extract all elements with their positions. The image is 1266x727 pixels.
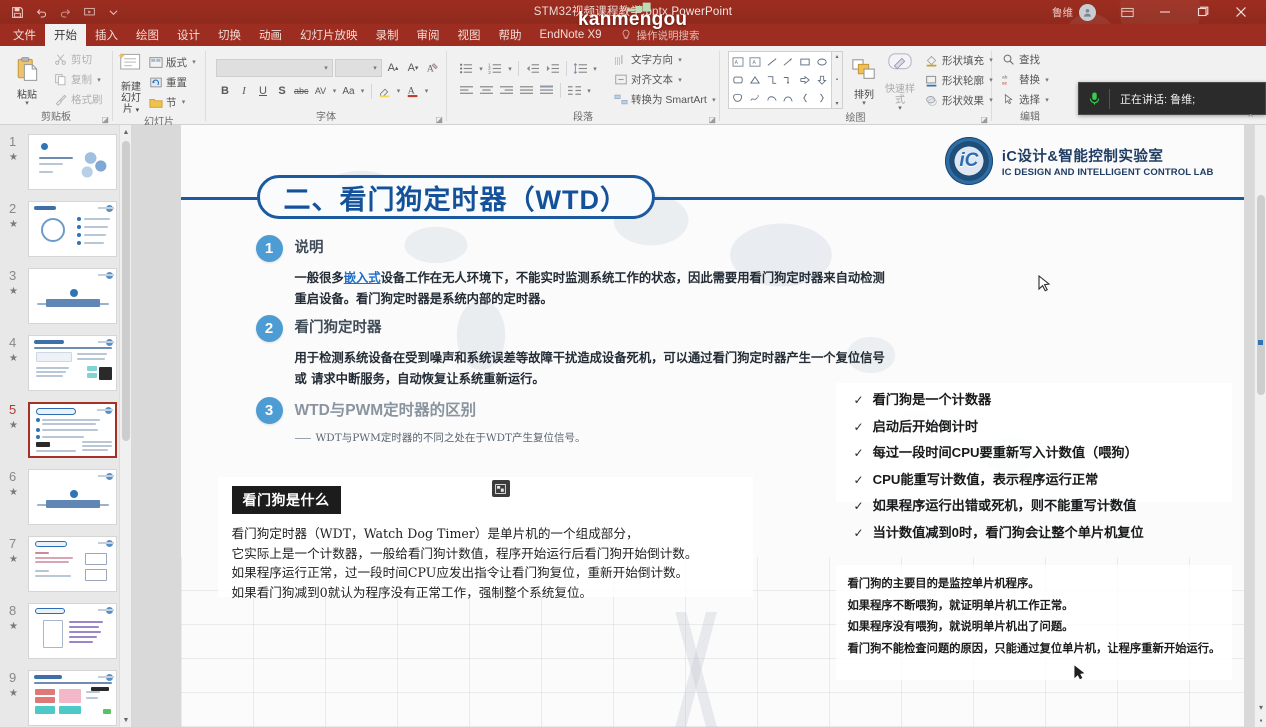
section-3-dash [295,438,311,439]
bullets-icon[interactable] [457,60,476,78]
note-line: 如果程序不断喂狗，就证明单片机工作正常。 [848,595,1221,617]
shape-textbox-icon[interactable]: A [730,53,747,71]
thumbnail-number-text: 6 [9,469,16,484]
paste-icon [13,55,41,88]
select-button[interactable]: 选择 ▾ [999,90,1055,109]
check-item-text: 如果程序运行出错或死机，则不能重写计数值 [873,495,1137,514]
shape-curve-icon[interactable] [763,89,780,107]
thumbnail-slide-6[interactable]: 6★ [0,469,131,527]
chevron-down-icon[interactable]: ▾ [1043,96,1051,104]
slide-area-scrollbar[interactable]: ▾ ▪ [1254,125,1266,727]
shape-effects-button[interactable]: 形状效果 ▾ [922,91,999,110]
chevron-down-icon[interactable]: ▾ [676,56,684,64]
arrange-button[interactable]: 排列 ▾ [850,54,878,107]
check-icon: ✓ [854,420,864,434]
numbering-icon[interactable]: 123 [486,60,505,78]
section-1-number: 1 [256,235,283,262]
ribbon-group-editing: 查找 abac 替换 ▾ 选择 ▾ [992,46,1068,125]
shape-fill-icon [924,53,939,68]
chevron-down-icon[interactable]: ▾ [331,87,339,95]
undo-icon[interactable] [34,5,49,20]
character-spacing-button[interactable]: AV [312,82,330,100]
slide-editing-area[interactable]: iC iC设计&智能控制实验室 IC DESIGN AND INTELLIGEN… [131,125,1254,727]
thumbnail-number: 6★ [0,469,28,527]
format-painter-label: 格式刷 [71,92,103,107]
shape-down-arrow-icon[interactable] [813,71,830,89]
star-icon: ★ [9,418,18,433]
thumbnail-image[interactable] [28,201,117,257]
thumbnail-slide-4[interactable]: 4★ [0,335,131,393]
note-line: 看门狗的主要目的是监控单片机程序。 [848,573,1221,595]
chevron-down-icon[interactable]: ▾ [136,107,140,114]
thumbnail-slide-7[interactable]: 7★ [0,536,131,594]
font-dialog-launcher-icon[interactable]: ◪ [435,115,443,124]
chevron-down-icon[interactable]: ▾ [359,87,367,95]
text-shadow-button[interactable]: S [273,82,291,100]
section-1-body-highlight: 嵌入式 [344,270,381,285]
paste-button[interactable]: 粘贴 ▾ [5,52,49,107]
restore-icon[interactable] [1184,0,1222,24]
shape-triangle-icon[interactable] [747,71,764,89]
tab-slideshow[interactable]: 幻灯片放映 [291,24,367,46]
thumbnail-number-text: 9 [9,670,16,685]
layout-label: 版式 [166,55,187,70]
tab-design[interactable]: 设计 [168,24,209,46]
chevron-down-icon[interactable]: ▾ [862,101,866,107]
ribbon-group-paragraph: ▾ 123 ▾ ▾ [447,46,719,125]
star-icon: ★ [9,217,18,232]
shape-freeform-icon[interactable] [747,89,764,107]
title-bar: STM32视频课程教学.pptx PowerPoint ▂▄▆ kanmengo… [0,0,1266,24]
thumbnail-image[interactable] [28,536,117,592]
tab-draw[interactable]: 绘图 [127,24,168,46]
section-3-number: 3 [256,397,283,424]
chevron-down-icon[interactable]: ▾ [369,64,381,72]
star-icon: ★ [9,485,18,500]
tab-transitions[interactable]: 切换 [209,24,250,46]
tip-box[interactable]: 看门狗是什么 看门狗定时器（WDT，Watch Dog Timer）是单片机的一… [218,477,753,597]
change-case-button[interactable]: Aa [340,82,358,100]
increase-font-size-icon[interactable]: A▴ [384,59,402,77]
shape-fill-button[interactable]: 形状填充 ▾ [922,51,999,70]
slide-title[interactable]: 二、看门狗定时器（WTD） [257,175,655,219]
new-slide-label-line1: 新建 [121,82,141,93]
watermark-text: kanmengou [578,9,687,31]
start-slideshow-icon[interactable] [82,5,97,20]
shape-oval-icon[interactable] [813,53,830,71]
thumbnail-number: 4★ [0,335,28,393]
comment-icon[interactable]: ▾ [1259,703,1263,712]
svg-text:|||: ||| [614,55,620,65]
new-slide-button[interactable]: 新建 幻灯片 ▾ [118,48,144,116]
find-button[interactable]: 查找 [999,50,1055,69]
star-icon: ★ [9,619,18,634]
reset-label: 重置 [166,75,187,90]
smartart-icon [613,92,628,107]
star-icon: ★ [9,351,18,366]
cursor-icon [1001,92,1016,107]
lab-name-en: IC DESIGN AND INTELLIGENT CONTROL LAB [1002,167,1214,178]
shape-fill-label: 形状填充 [942,53,984,68]
chevron-down-icon[interactable]: ▾ [591,65,599,73]
align-left-icon[interactable] [457,82,476,100]
tab-record[interactable]: 录制 [367,24,408,46]
chevron-down-icon[interactable]: ▾ [506,65,514,73]
align-text-button[interactable]: 对齐文本 ▾ [611,70,722,89]
system-tray-icon[interactable]: ▪ [1260,716,1263,725]
shape-arrow-icon[interactable] [780,53,797,71]
check-item: ✓ 看门狗是一个计数器 [854,389,1234,408]
decrease-indent-icon[interactable] [523,60,542,78]
convert-to-smartart-button[interactable]: 转换为 SmartArt ▾ [611,90,722,109]
thumbnail-slide-5[interactable]: 5★ [0,402,131,460]
section-3[interactable]: 3 WTD与PWM定时器的区别 WDT与PWM定时器的不同之处在于WDT产生复位… [256,397,816,445]
align-center-icon[interactable] [477,82,496,100]
character-spacing-label: AV [315,86,326,96]
shape-rectangle-icon[interactable] [797,53,814,71]
ribbon-group-slides: 新建 幻灯片 ▾ 版式 ▾ [113,46,205,125]
decrease-font-size-icon[interactable]: A▾ [404,59,422,77]
chevron-down-icon[interactable]: ▾ [585,87,593,95]
tip-box-line-3: 如果程序运行正常，过一段时间CPU应发出指令让看门狗复位，重新开始倒计数。 [232,563,753,583]
image-placeholder-icon[interactable] [492,480,510,497]
notes-list: 看门狗的主要目的是监控单片机程序。 如果程序不断喂狗，就证明单片机工作正常。 如… [848,573,1221,659]
find-label: 查找 [1019,52,1040,67]
check-item: ✓ 当计数值减到0时，看门狗会让整个单片机复位 [854,522,1234,541]
section-1-body-post: 设备工作在无人环境下，不能实时监测系统工作的状态，因此需要用看门狗定时器来自动检… [381,270,885,285]
note-line: 如果程序没有喂狗，就说明单片机出了问题。 [848,616,1221,638]
select-label: 选择 [1019,92,1040,107]
check-item-text: 当计数值减到0时，看门狗会让整个单片机复位 [873,522,1144,541]
thumbnail-number-text: 4 [9,335,16,350]
copy-icon [53,72,68,87]
section-2[interactable]: 2 看门狗定时器 用于检测系统设备在受到噪声和系统误差等故障干扰造成设备死机，可… [256,315,1046,389]
arrange-label: 排列 [854,90,874,101]
thumbnail-number: 7★ [0,536,28,594]
check-icon: ✓ [854,473,864,487]
thumbnail-number-text: 1 [9,134,16,149]
section-button[interactable]: 节 ▾ [146,93,202,112]
meeting-speaking-overlay[interactable]: 正在讲话: 鲁维; [1078,82,1266,115]
thumbnail-number-text: 5 [9,402,16,417]
font-size-input[interactable]: ▾ [335,59,382,77]
scroll-thumb[interactable]: ▪ [836,77,838,83]
editing-group-label: 编辑 [992,111,1068,125]
section-2-heading: 看门狗定时器 [295,315,885,342]
lab-logo: iC iC设计&智能控制实验室 IC DESIGN AND INTELLIGEN… [945,137,1214,185]
ribbon[interactable]: 粘贴 ▾ 剪切 复制 ▾ [0,46,1266,125]
shape-left-brace-icon[interactable] [797,89,814,107]
format-painter-button[interactable]: 格式刷 [51,90,107,109]
align-text-label: 对齐文本 [631,72,673,87]
tip-box-label: 看门狗是什么 [232,486,341,514]
shape-effects-label: 形状效果 [942,93,984,108]
check-item: ✓ 如果程序运行出错或死机，则不能重写计数值 [854,495,1234,514]
check-item: ✓ CPU能重写计数值，表示程序运行正常 [854,469,1234,488]
section-1[interactable]: 1 说明 一般很多嵌入式设备工作在无人环境下，不能实时监测系统工作的状态，因此需… [256,235,1016,309]
slide-thumbnail-pane[interactable]: 1★ 2★ 3★ [0,125,131,727]
clipboard-small-buttons[interactable]: 剪切 复制 ▾ 格式刷 [51,50,107,109]
slide-title-text: 二、看门狗定时器（WTD） [284,178,628,217]
paragraph-group-label: 段落 [447,111,719,125]
text-direction-label: 文字方向 [631,52,673,67]
paragraph-row-1[interactable]: ▾ 123 ▾ ▾ [457,60,599,78]
underline-button[interactable]: U [254,82,272,100]
check-icon: ✓ [854,526,864,540]
layout-button[interactable]: 版式 ▾ [146,53,202,72]
reset-button[interactable]: 重置 [146,73,202,92]
thumbnail-slide-3[interactable]: 3★ [0,268,131,326]
quick-styles-icon [885,51,915,82]
thumbnail-slide-9[interactable]: 9★ [0,670,131,727]
check-icon: ✓ [854,446,864,460]
copy-button[interactable]: 复制 ▾ [51,70,107,89]
shape-arc-icon[interactable] [780,89,797,107]
new-slide-icon [118,51,144,80]
shape-outline-button[interactable]: 形状轮廓 ▾ [922,71,999,90]
line-spacing-icon[interactable] [571,60,590,78]
clipboard-dialog-launcher-icon[interactable]: ◪ [101,115,109,124]
check-item: ✓ 启动后开始倒计时 [854,416,1234,435]
thumbnail-slide-8[interactable]: 8★ [0,603,131,661]
thumbnail-pane-scrollbar[interactable]: ▲ ▼ [119,125,131,727]
chevron-down-icon[interactable]: ▾ [477,65,485,73]
section-1-body-line2: 重启设备。看门狗定时器是系统内部的定时器。 [295,288,885,309]
chevron-down-icon[interactable]: ▾ [423,87,431,95]
shape-effects-icon [924,93,939,108]
paragraph-row-2[interactable]: ▾ [457,82,599,100]
avatar[interactable] [1079,4,1096,21]
columns-icon[interactable] [565,82,584,100]
thumbnail-image[interactable] [28,603,117,659]
shape-pentagon-icon[interactable] [730,89,747,107]
align-text-icon [613,72,628,87]
quick-styles-button[interactable]: 快速样式 ▾ [885,48,915,112]
check-item: ✓ 每过一段时间CPU要重新写入计数值（喂狗） [854,442,1234,461]
text-direction-button[interactable]: ||| 文字方向 ▾ [611,50,722,69]
tip-box-line-1: 看门狗定时器（WDT，Watch Dog Timer）是单片机的一个组成部分， [232,524,753,544]
tip-box-line-4: 如果看门狗减到0就认为程序没有正常工作，强制整个系统复位。 [232,583,753,603]
thumbnail-image[interactable] [28,670,117,726]
cut-label: 剪切 [71,52,92,67]
editing-small-buttons[interactable]: 查找 abac 替换 ▾ 选择 ▾ [999,50,1055,109]
distribute-icon[interactable] [537,82,556,100]
thumbnail-number-text: 8 [9,603,16,618]
chevron-down-icon[interactable]: ▾ [395,87,403,95]
italic-button[interactable]: I [235,82,253,100]
thumbnail-number: 5★ [0,402,28,460]
shape-elbow-arrow-icon[interactable] [780,71,797,89]
thumbnail-number-text: 3 [9,268,16,283]
tab-review[interactable]: 审阅 [408,24,449,46]
ribbon-group-drawing: A A [720,46,991,125]
ribbon-group-clipboard: 粘贴 ▾ 剪切 复制 ▾ [0,46,112,125]
increase-indent-icon[interactable] [543,60,562,78]
text-highlight-color-icon[interactable] [376,82,394,100]
star-icon: ★ [9,150,18,165]
svg-text:3: 3 [488,70,491,75]
note-line: 看门狗不能检查问题的原因，只能通过复位单片机，让程序重新开始运行。 [848,638,1221,660]
chevron-down-icon[interactable]: ▾ [1043,76,1051,84]
scrollbar-thumb[interactable] [1257,195,1265,395]
drawing-dialog-launcher-icon[interactable]: ◪ [980,115,988,124]
svg-text:A: A [752,60,756,66]
chevron-down-icon[interactable]: ▾ [180,98,188,106]
thumbnail-image[interactable] [28,268,117,324]
redo-icon[interactable] [58,5,73,20]
font-group-label: 字体 [206,111,446,125]
drawing-small-buttons[interactable]: 形状填充 ▾ 形状轮廓 ▾ 形状效果 [922,51,999,110]
layout-icon [148,55,163,70]
current-slide[interactable]: iC iC设计&智能控制实验室 IC DESIGN AND INTELLIGEN… [181,125,1244,727]
customize-quick-access-icon[interactable] [106,5,121,20]
chevron-down-icon[interactable]: ▾ [190,58,198,66]
tab-view[interactable]: 视图 [449,24,490,46]
scroll-down-icon[interactable]: ▾ [835,100,838,107]
chevron-down-icon[interactable]: ▾ [676,76,684,84]
overlay-collapse-icon[interactable]: ⌃ [1246,112,1255,125]
check-list: ✓ 看门狗是一个计数器 ✓ 启动后开始倒计时 ✓ 每过一段时间CPU要重新写入计… [854,389,1234,548]
check-item-text: CPU能重写计数值，表示程序运行正常 [873,469,1099,488]
text-direction-icon: ||| [613,52,628,67]
shape-rounded-rectangle-icon[interactable] [730,71,747,89]
user-name[interactable]: 鲁维 [1052,5,1073,20]
thumbnail-number: 1★ [0,134,28,192]
section-1-heading: 说明 [295,235,885,262]
thumbnail-image[interactable] [28,469,117,525]
paragraph-small-buttons[interactable]: ||| 文字方向 ▾ 对齐文本 ▾ [611,50,722,109]
star-icon: ★ [9,552,18,567]
thumbnail-number: 8★ [0,603,28,661]
cut-button[interactable]: 剪切 [51,50,107,69]
microphone-icon[interactable] [1079,91,1109,106]
shapes-grid[interactable]: A A [728,51,832,109]
shape-outline-label: 形状轮廓 [942,73,984,88]
lab-name-cn: iC设计&智能控制实验室 [1002,145,1214,166]
thumbnail-image[interactable] [28,134,117,190]
shape-vertical-textbox-icon[interactable]: A [747,53,764,71]
star-icon: ★ [9,686,18,701]
lab-seal-icon: iC [945,137,993,185]
thumbnail-number: 2★ [0,201,28,259]
scrollbar-thumb[interactable] [122,141,130,441]
check-icon: ✓ [854,393,864,407]
chevron-down-icon[interactable]: ▾ [710,96,718,104]
tab-insert[interactable]: 插入 [86,24,127,46]
scroll-up-icon[interactable]: ▴ [835,53,838,60]
ribbon-group-font: ▾ ▾ A▴ A▾ A B I U S [206,46,446,125]
quick-access-toolbar[interactable] [0,5,121,20]
shapes-gallery[interactable]: A A [728,51,843,109]
paragraph-dialog-launcher-icon[interactable]: ◪ [708,115,716,124]
window-controls[interactable]: 鲁维 [1052,0,1260,24]
shape-right-arrow-icon[interactable] [797,71,814,89]
clear-formatting-icon[interactable]: A [424,59,442,77]
section-2-body-line2: 或 请求中断服务，自动恢复让系统重新运行。 [295,368,885,389]
justify-icon[interactable] [517,82,536,100]
slides-small-buttons[interactable]: 版式 ▾ 重置 节 ▾ [146,53,202,112]
tab-file[interactable]: 文件 [4,24,45,46]
minimize-icon[interactable] [1146,0,1184,24]
lab-seal-mark: iC [959,150,978,172]
star-icon: ★ [9,284,18,299]
svg-text:A: A [735,60,739,66]
shape-outline-icon [924,73,939,88]
quick-styles-label: 快速样式 [885,84,915,106]
scrollbar-marker [1258,340,1263,345]
font-controls-row-1[interactable]: ▾ ▾ A▴ A▾ A [216,59,442,77]
svg-text:ab: ab [1002,75,1008,81]
shapes-gallery-scrollbar[interactable]: ▴ ▪ ▾ [832,51,843,109]
align-right-icon[interactable] [497,82,516,100]
thumbnail-image[interactable] [28,335,117,391]
copy-label: 复制 [71,72,92,87]
speaking-status: 正在讲话: 鲁维; [1110,91,1195,107]
drawing-group-label: 绘图 [720,112,991,126]
tab-help[interactable]: 帮助 [490,24,531,46]
section-label: 节 [166,95,177,110]
font-name-input[interactable]: ▾ [216,59,333,77]
tip-box-line-2: 它实际上是一个计数器，一般给看门狗计数值，程序开始运行后看门狗开始倒计数。 [232,544,753,564]
replace-button[interactable]: abac 替换 ▾ [999,70,1055,89]
replace-label: 替换 [1019,72,1040,87]
thumbnail-slide-1[interactable]: 1★ [0,134,131,192]
shape-line-icon[interactable] [763,53,780,71]
close-icon[interactable] [1222,0,1260,24]
section-3-heading: WTD与PWM定时器的区别 [295,397,586,424]
convert-to-smartart-label: 转换为 SmartArt [631,92,707,107]
check-item-text: 每过一段时间CPU要重新写入计数值（喂狗） [873,442,1138,461]
reset-icon [148,75,163,90]
svg-text:A: A [407,86,414,97]
thumbnail-number-text: 7 [9,536,16,551]
check-icon: ✓ [854,499,864,513]
check-item-text: 看门狗是一个计数器 [873,389,992,408]
bold-button[interactable]: B [216,82,234,100]
section-2-body-line1: 用于检测系统设备在受到噪声和系统误差等故障干扰造成设备死机，可以通过看门狗定时器… [295,347,885,368]
shape-elbow-connector-icon[interactable] [763,71,780,89]
save-icon[interactable] [10,5,25,20]
section-3-sub: WDT与PWM定时器的不同之处在于WDT产生复位信号。 [316,432,586,444]
shape-right-brace-icon[interactable] [813,89,830,107]
check-item-text: 启动后开始倒计时 [873,416,979,435]
tab-home[interactable]: 开始 [45,24,86,46]
chevron-down-icon[interactable]: ▾ [25,101,29,107]
new-slide-label-line2: 幻灯片 ▾ [118,93,144,116]
strikethrough-button[interactable]: abc [292,82,311,100]
search-icon [1001,52,1016,67]
svg-text:ac: ac [1002,81,1008,86]
arrange-icon [850,57,878,88]
thumbnail-slide-2[interactable]: 2★ [0,201,131,259]
thumbnail-image-selected[interactable] [28,402,117,458]
font-color-icon[interactable]: A [404,82,422,100]
clipboard-group-label: 剪贴板 [0,111,112,125]
thumbnail-number: 3★ [0,268,28,326]
thumbnail-number-text: 2 [9,201,16,216]
ribbon-display-options-icon[interactable] [1108,0,1146,24]
replace-icon: abac [1001,72,1016,87]
paintbrush-icon [53,92,68,107]
chevron-down-icon[interactable]: ▾ [95,76,103,84]
section-2-number: 2 [256,315,283,342]
section-icon [148,95,163,110]
notification-icons[interactable]: ▾ ▪ [1255,701,1266,727]
chevron-down-icon[interactable]: ▾ [320,64,332,72]
tab-animations[interactable]: 动画 [250,24,291,46]
font-controls-row-2[interactable]: B I U S abc AV ▾ Aa ▾ ▾ [216,82,431,100]
scissors-icon [53,52,68,67]
